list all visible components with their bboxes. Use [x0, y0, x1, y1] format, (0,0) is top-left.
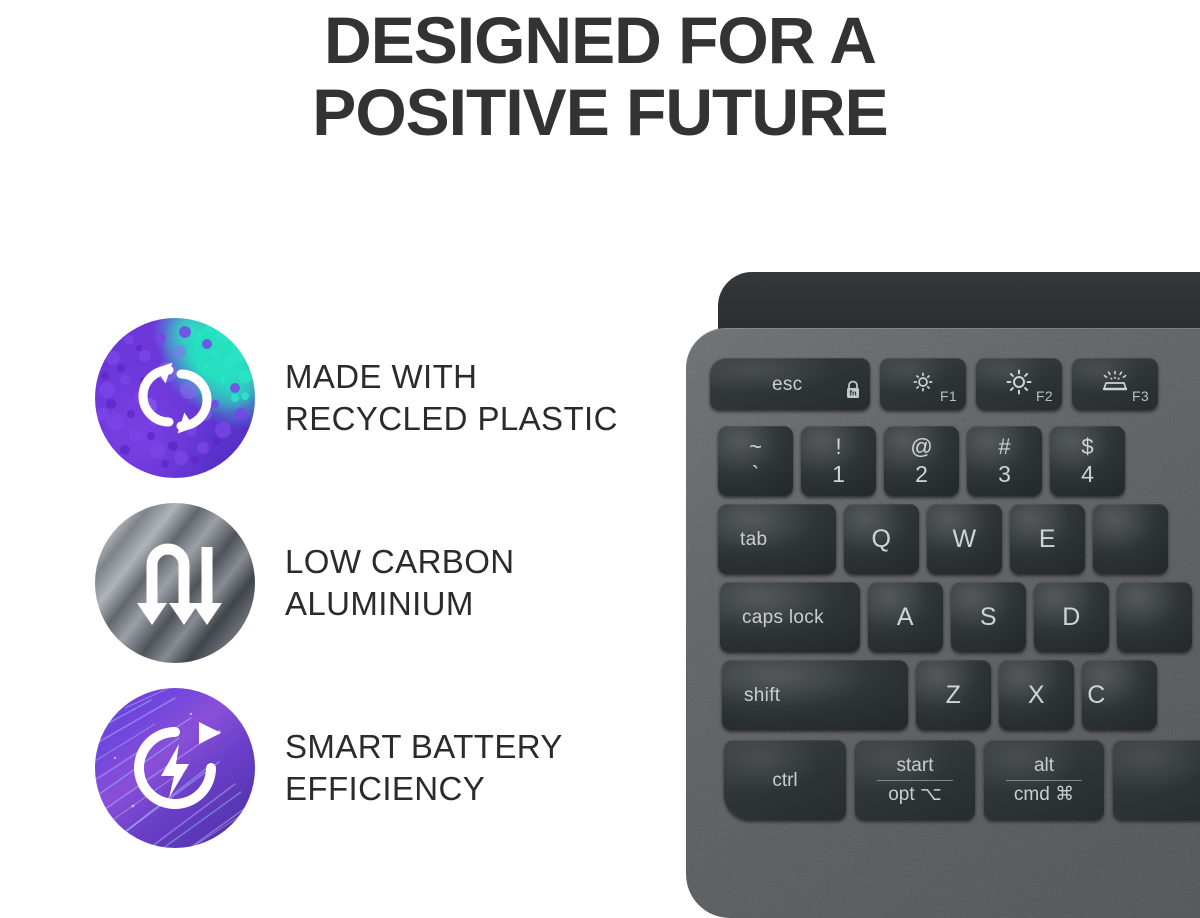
key-fn-tag: F2	[1036, 388, 1053, 404]
key-label-bottom: 4	[1081, 463, 1094, 486]
headline-line-2: POSITIVE FUTURE	[0, 76, 1200, 148]
key-f1-brightness-down[interactable]: F1	[880, 358, 966, 410]
feature-item-low-carbon-aluminium: LOW CARBON ALUMINIUM	[95, 503, 675, 663]
feature-list: MADE WITH RECYCLED PLASTIC LOW CARBON AL…	[95, 318, 675, 848]
key-dish	[1093, 504, 1168, 574]
key-r-partial[interactable]	[1093, 504, 1168, 574]
key-c[interactable]: C	[1082, 660, 1157, 730]
key-fn-tag: F3	[1132, 388, 1149, 404]
key-a[interactable]: A	[868, 582, 943, 652]
key-start-opt[interactable]: start opt ⌥	[855, 740, 975, 820]
feature-item-smart-battery: SMART BATTERY EFFICIENCY	[95, 688, 675, 848]
low-carbon-aluminium-icon	[95, 503, 255, 663]
key-esc[interactable]: esc fn	[710, 358, 870, 410]
keyboard-row-numbers: ~ ` ! 1 @ 2 # 3 $ 4	[718, 426, 1125, 496]
key-dish	[718, 504, 836, 574]
brightness-up-icon	[1005, 368, 1033, 401]
key-label: S	[980, 605, 997, 630]
key-label-bottom: 3	[998, 463, 1011, 486]
key-f2-brightness-up[interactable]: F2	[976, 358, 1062, 410]
keyboard-row-home: caps lock A S D	[720, 582, 1192, 652]
key-divider	[1006, 780, 1083, 781]
key-label-bottom: 1	[832, 463, 845, 486]
key-caps-lock[interactable]: caps lock	[720, 582, 860, 652]
key-2[interactable]: @ 2	[884, 426, 959, 496]
key-label: Q	[872, 527, 892, 552]
key-label: ctrl	[772, 771, 797, 790]
key-1[interactable]: ! 1	[801, 426, 876, 496]
key-dish	[1117, 582, 1192, 652]
feature-item-recycled-plastic: MADE WITH RECYCLED PLASTIC	[95, 318, 675, 478]
key-q[interactable]: Q	[844, 504, 919, 574]
key-label: esc	[772, 375, 802, 394]
key-label-bottom: cmd ⌘	[1014, 785, 1074, 804]
key-tilde[interactable]: ~ `	[718, 426, 793, 496]
keyboard-row-shift: shift Z X C	[722, 660, 1157, 730]
key-space-partial[interactable]	[1113, 740, 1200, 820]
keyboard-product-image: esc fn	[662, 272, 1200, 912]
key-label: caps lock	[742, 608, 824, 627]
key-label-top: ~	[749, 436, 762, 458]
recycled-plastic-icon	[95, 318, 255, 478]
key-label: C	[1087, 683, 1106, 708]
key-label-bottom: `	[752, 463, 760, 486]
headline-line-1: DESIGNED FOR A	[0, 4, 1200, 76]
keyboard-row-modifiers: ctrl start opt ⌥ alt cmd ⌘	[724, 740, 1200, 820]
feature-label-recycled-plastic: MADE WITH RECYCLED PLASTIC	[285, 356, 618, 440]
key-label: X	[1028, 683, 1045, 708]
brightness-down-icon	[911, 370, 935, 399]
key-label-top: start	[897, 756, 934, 775]
key-fn-tag: F1	[940, 388, 957, 404]
key-label: W	[952, 527, 976, 552]
key-label-top: alt	[1034, 756, 1054, 775]
key-label: A	[897, 605, 914, 630]
feature-label-smart-battery: SMART BATTERY EFFICIENCY	[285, 726, 563, 810]
key-x[interactable]: X	[999, 660, 1074, 730]
keyboard-row-function: esc fn	[710, 358, 1158, 410]
key-ctrl[interactable]: ctrl	[724, 740, 846, 820]
key-dish	[1113, 740, 1200, 820]
key-f3-backlight[interactable]: F3	[1072, 358, 1158, 410]
keyboard-keys: esc fn	[686, 328, 1200, 918]
key-4[interactable]: $ 4	[1050, 426, 1125, 496]
key-alt-cmd[interactable]: alt cmd ⌘	[984, 740, 1104, 820]
key-z[interactable]: Z	[916, 660, 991, 730]
key-shift[interactable]: shift	[722, 660, 908, 730]
page-title: DESIGNED FOR A POSITIVE FUTURE	[0, 0, 1200, 148]
key-w[interactable]: W	[927, 504, 1002, 574]
smart-battery-icon	[95, 688, 255, 848]
key-f-partial[interactable]	[1117, 582, 1192, 652]
fn-lock-icon: fn	[844, 380, 862, 404]
key-label: tab	[740, 530, 767, 549]
feature-label-low-carbon-aluminium: LOW CARBON ALUMINIUM	[285, 541, 515, 625]
backlight-icon	[1101, 371, 1129, 398]
key-label-bottom: opt ⌥	[888, 785, 942, 804]
key-tab[interactable]: tab	[718, 504, 836, 574]
key-label: Z	[946, 683, 962, 708]
key-label-top: !	[835, 436, 841, 458]
key-label: E	[1039, 527, 1056, 552]
key-label: shift	[744, 686, 780, 705]
key-s[interactable]: S	[951, 582, 1026, 652]
key-e[interactable]: E	[1010, 504, 1085, 574]
key-label-top: @	[910, 436, 932, 458]
key-label: D	[1062, 605, 1081, 630]
key-d[interactable]: D	[1034, 582, 1109, 652]
key-divider	[877, 780, 954, 781]
key-label-top: $	[1081, 436, 1093, 458]
key-label-top: #	[998, 436, 1010, 458]
svg-text:fn: fn	[849, 389, 856, 398]
key-3[interactable]: # 3	[967, 426, 1042, 496]
keyboard-row-qwerty: tab Q W E	[718, 504, 1168, 574]
key-label-bottom: 2	[915, 463, 928, 486]
